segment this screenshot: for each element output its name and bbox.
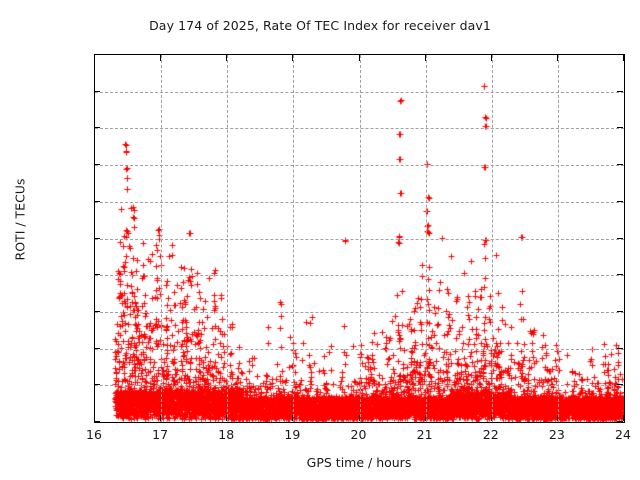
x-axis-tick	[292, 55, 293, 61]
gridline-vertical	[558, 55, 559, 422]
y-axis-tick	[94, 348, 100, 349]
x-axis-tick	[359, 55, 360, 61]
x-axis-tick	[359, 415, 360, 421]
x-axis-tick	[623, 55, 624, 61]
y-axis-tick	[94, 127, 100, 128]
gridline-vertical	[492, 55, 493, 422]
x-axis-tick	[226, 415, 227, 421]
x-axis-tick	[292, 415, 293, 421]
x-axis-tick-label: 16	[74, 427, 114, 442]
chart-title: Day 174 of 2025, Rate Of TEC Index for r…	[0, 18, 640, 33]
y-axis-tick	[617, 421, 623, 422]
y-axis-tick	[617, 238, 623, 239]
x-axis-tick-label: 18	[206, 427, 246, 442]
x-axis-tick-label: 23	[537, 427, 577, 442]
y-axis-tick	[94, 421, 100, 422]
y-axis-tick	[617, 91, 623, 92]
gridline-vertical	[161, 55, 162, 422]
x-axis-tick	[623, 415, 624, 421]
y-axis-tick	[94, 91, 100, 92]
y-axis-label: ROTI / TECUs	[13, 130, 28, 310]
y-axis-tick	[617, 348, 623, 349]
x-axis-tick-label: 21	[405, 427, 445, 442]
gridline-vertical	[293, 55, 294, 422]
x-axis-tick	[160, 55, 161, 61]
x-axis-tick	[557, 55, 558, 61]
y-axis-tick	[94, 201, 100, 202]
x-axis-tick-label: 24	[603, 427, 640, 442]
x-axis-tick	[557, 415, 558, 421]
x-axis-tick	[425, 415, 426, 421]
gridline-vertical	[426, 55, 427, 422]
y-axis-tick	[94, 311, 100, 312]
y-axis-tick	[94, 164, 100, 165]
chart-container: Day 174 of 2025, Rate Of TEC Index for r…	[0, 0, 640, 480]
x-axis-tick	[425, 55, 426, 61]
x-axis-tick	[94, 55, 95, 61]
x-axis-tick	[94, 415, 95, 421]
x-axis-tick	[491, 55, 492, 61]
y-axis-tick	[617, 201, 623, 202]
x-axis-tick	[226, 55, 227, 61]
x-axis-tick-label: 17	[140, 427, 180, 442]
x-axis-tick-label: 19	[272, 427, 312, 442]
y-axis-tick	[94, 384, 100, 385]
x-axis-label: GPS time / hours	[94, 455, 624, 470]
x-axis-tick	[160, 415, 161, 421]
y-axis-tick	[94, 274, 100, 275]
y-axis-tick	[617, 164, 623, 165]
x-axis-tick-label: 22	[471, 427, 511, 442]
gridline-vertical	[360, 55, 361, 422]
plot-area	[94, 54, 625, 423]
x-axis-tick-label: 20	[339, 427, 379, 442]
y-axis-tick	[617, 384, 623, 385]
y-axis-tick	[617, 127, 623, 128]
y-axis-tick	[617, 274, 623, 275]
x-axis-tick	[491, 415, 492, 421]
gridline-vertical	[227, 55, 228, 422]
y-axis-tick	[94, 238, 100, 239]
y-axis-tick	[617, 311, 623, 312]
